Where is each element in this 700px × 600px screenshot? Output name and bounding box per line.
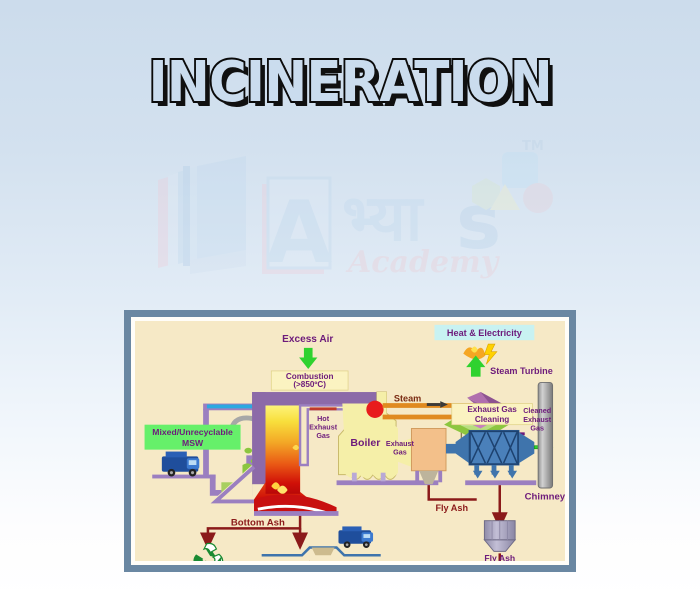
label-exhaust-gas-cleaning-badge: Exhaust Gas Cleaning — [452, 404, 533, 425]
label-fly-ash-processing: Fly Ash Processing — [477, 553, 523, 561]
trademark-symbol: TM — [522, 140, 544, 154]
brand-devanagari: भ्या — [342, 182, 425, 256]
fly-ash-line-left — [429, 485, 477, 499]
diagram-inner-border: Excess Air Combustion (>850ºC) Mixed/Unr… — [131, 317, 569, 565]
recycling-arrows-icon — [193, 543, 222, 561]
label-fap-line1: Fly Ash — [484, 553, 515, 561]
label-egc-line2: Cleaning — [475, 415, 509, 424]
watermark-logo: A भ्या s Academy TM — [150, 140, 560, 300]
label-mixed-msw-line2: MSW — [182, 438, 204, 448]
incineration-process-diagram: Excess Air Combustion (>850ºC) Mixed/Unr… — [135, 321, 565, 561]
incineration-diagram-frame: Excess Air Combustion (>850ºC) Mixed/Unr… — [124, 310, 576, 572]
label-ceg-line1: Cleaned — [523, 406, 551, 415]
label-ceg-line2: Exhaust — [523, 415, 552, 424]
furnace-hood — [252, 392, 377, 405]
lightning-icon — [484, 344, 496, 364]
filter-support-bar — [465, 480, 536, 485]
logo-shapes — [472, 152, 553, 213]
label-hot-exhaust-gas: Hot Exhaust Gas — [309, 414, 338, 440]
title-banner: INCINERATION — [0, 55, 700, 111]
label-hot-exhaust-line3: Gas — [316, 431, 330, 440]
brand-letter-s: s — [456, 177, 501, 266]
label-combustion-badge: Combustion (>850ºC) — [271, 371, 348, 390]
label-mixed-msw-badge: Mixed/Unrecyclable MSW — [145, 425, 241, 450]
label-exhaust-gas-line2: Gas — [393, 447, 407, 456]
garbage-truck-icon-left — [162, 452, 199, 477]
label-heat-electricity: Heat & Electricity — [447, 328, 523, 338]
filter-outlet-cone — [519, 432, 534, 463]
label-bottom-ash: Bottom Ash — [231, 517, 285, 528]
label-mixed-msw-line1: Mixed/Unrecyclable — [152, 427, 233, 437]
fly-ash-silo-icon — [484, 521, 515, 552]
steam-drum — [366, 401, 383, 418]
label-heat-electricity-badge: Heat & Electricity — [434, 325, 534, 340]
label-hot-exhaust-line2: Exhaust — [309, 422, 338, 431]
label-steam: Steam — [394, 394, 421, 404]
svg-text:A: A — [266, 183, 333, 283]
label-combustion-temp: (>850ºC) — [293, 380, 326, 389]
label-boiler: Boiler — [350, 437, 380, 449]
label-chimney: Chimney — [525, 492, 565, 503]
label-fly-ash: Fly Ash — [435, 503, 468, 513]
page-title: INCINERATION — [148, 55, 551, 111]
chimney-icon — [538, 382, 552, 488]
landfill-group — [262, 526, 381, 555]
label-hot-exhaust-line1: Hot — [317, 414, 330, 423]
boiler-support-bar — [337, 480, 439, 485]
brand-script-word: Academy — [345, 245, 501, 280]
garbage-truck-icon-landfill — [338, 526, 373, 548]
excess-air-arrow-icon — [299, 348, 317, 369]
ash-bed — [254, 494, 337, 513]
label-excess-air: Excess Air — [282, 334, 333, 345]
ash-return-line — [302, 553, 500, 561]
letter-a-mark: A — [262, 178, 333, 283]
label-ceg-line3: Gas — [530, 423, 544, 432]
landfill-fill — [312, 548, 335, 556]
label-steam-turbine: Steam Turbine — [490, 366, 553, 376]
exhaust-hopper-box — [411, 429, 446, 471]
label-exhaust-gas-line1: Exhaust — [386, 439, 415, 448]
duct-marker — [310, 407, 337, 410]
open-book-icon — [158, 156, 246, 274]
label-egc-line1: Exhaust Gas — [467, 405, 517, 414]
